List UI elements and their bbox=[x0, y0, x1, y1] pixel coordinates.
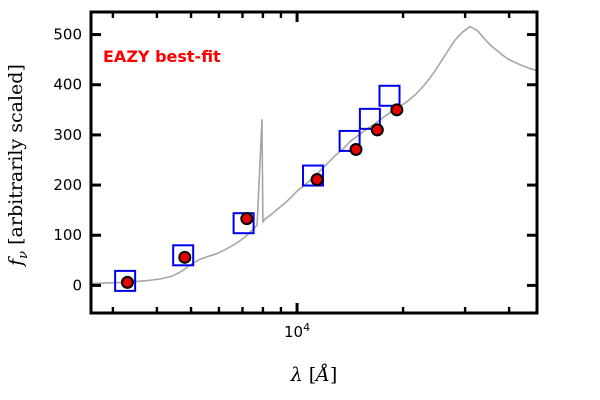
observed-photometry-point bbox=[122, 277, 133, 288]
y-tick-label: 500 bbox=[53, 26, 82, 44]
y-tick-label: 0 bbox=[72, 276, 82, 294]
observed-photometry-point bbox=[350, 144, 361, 155]
y-tick-label: 100 bbox=[53, 226, 82, 244]
observed-photometry-point bbox=[312, 174, 323, 185]
spectral-energy-distribution-plot: 0100200300400500 104 EAZY best-fit λ [Å]… bbox=[0, 0, 600, 400]
y-tick-label: 300 bbox=[53, 126, 82, 144]
observed-photometry-point bbox=[391, 104, 402, 115]
figure-canvas: 0100200300400500 104 EAZY best-fit λ [Å]… bbox=[0, 0, 600, 400]
y-tick-label: 400 bbox=[53, 76, 82, 94]
observed-photometry-point bbox=[179, 252, 190, 263]
x-axis-label: λ [Å] bbox=[290, 364, 338, 386]
observed-photometry-point bbox=[372, 124, 383, 135]
eazy-best-fit-annotation: EAZY best-fit bbox=[103, 47, 221, 66]
y-tick-label: 200 bbox=[53, 176, 82, 194]
observed-photometry-point bbox=[241, 213, 252, 224]
